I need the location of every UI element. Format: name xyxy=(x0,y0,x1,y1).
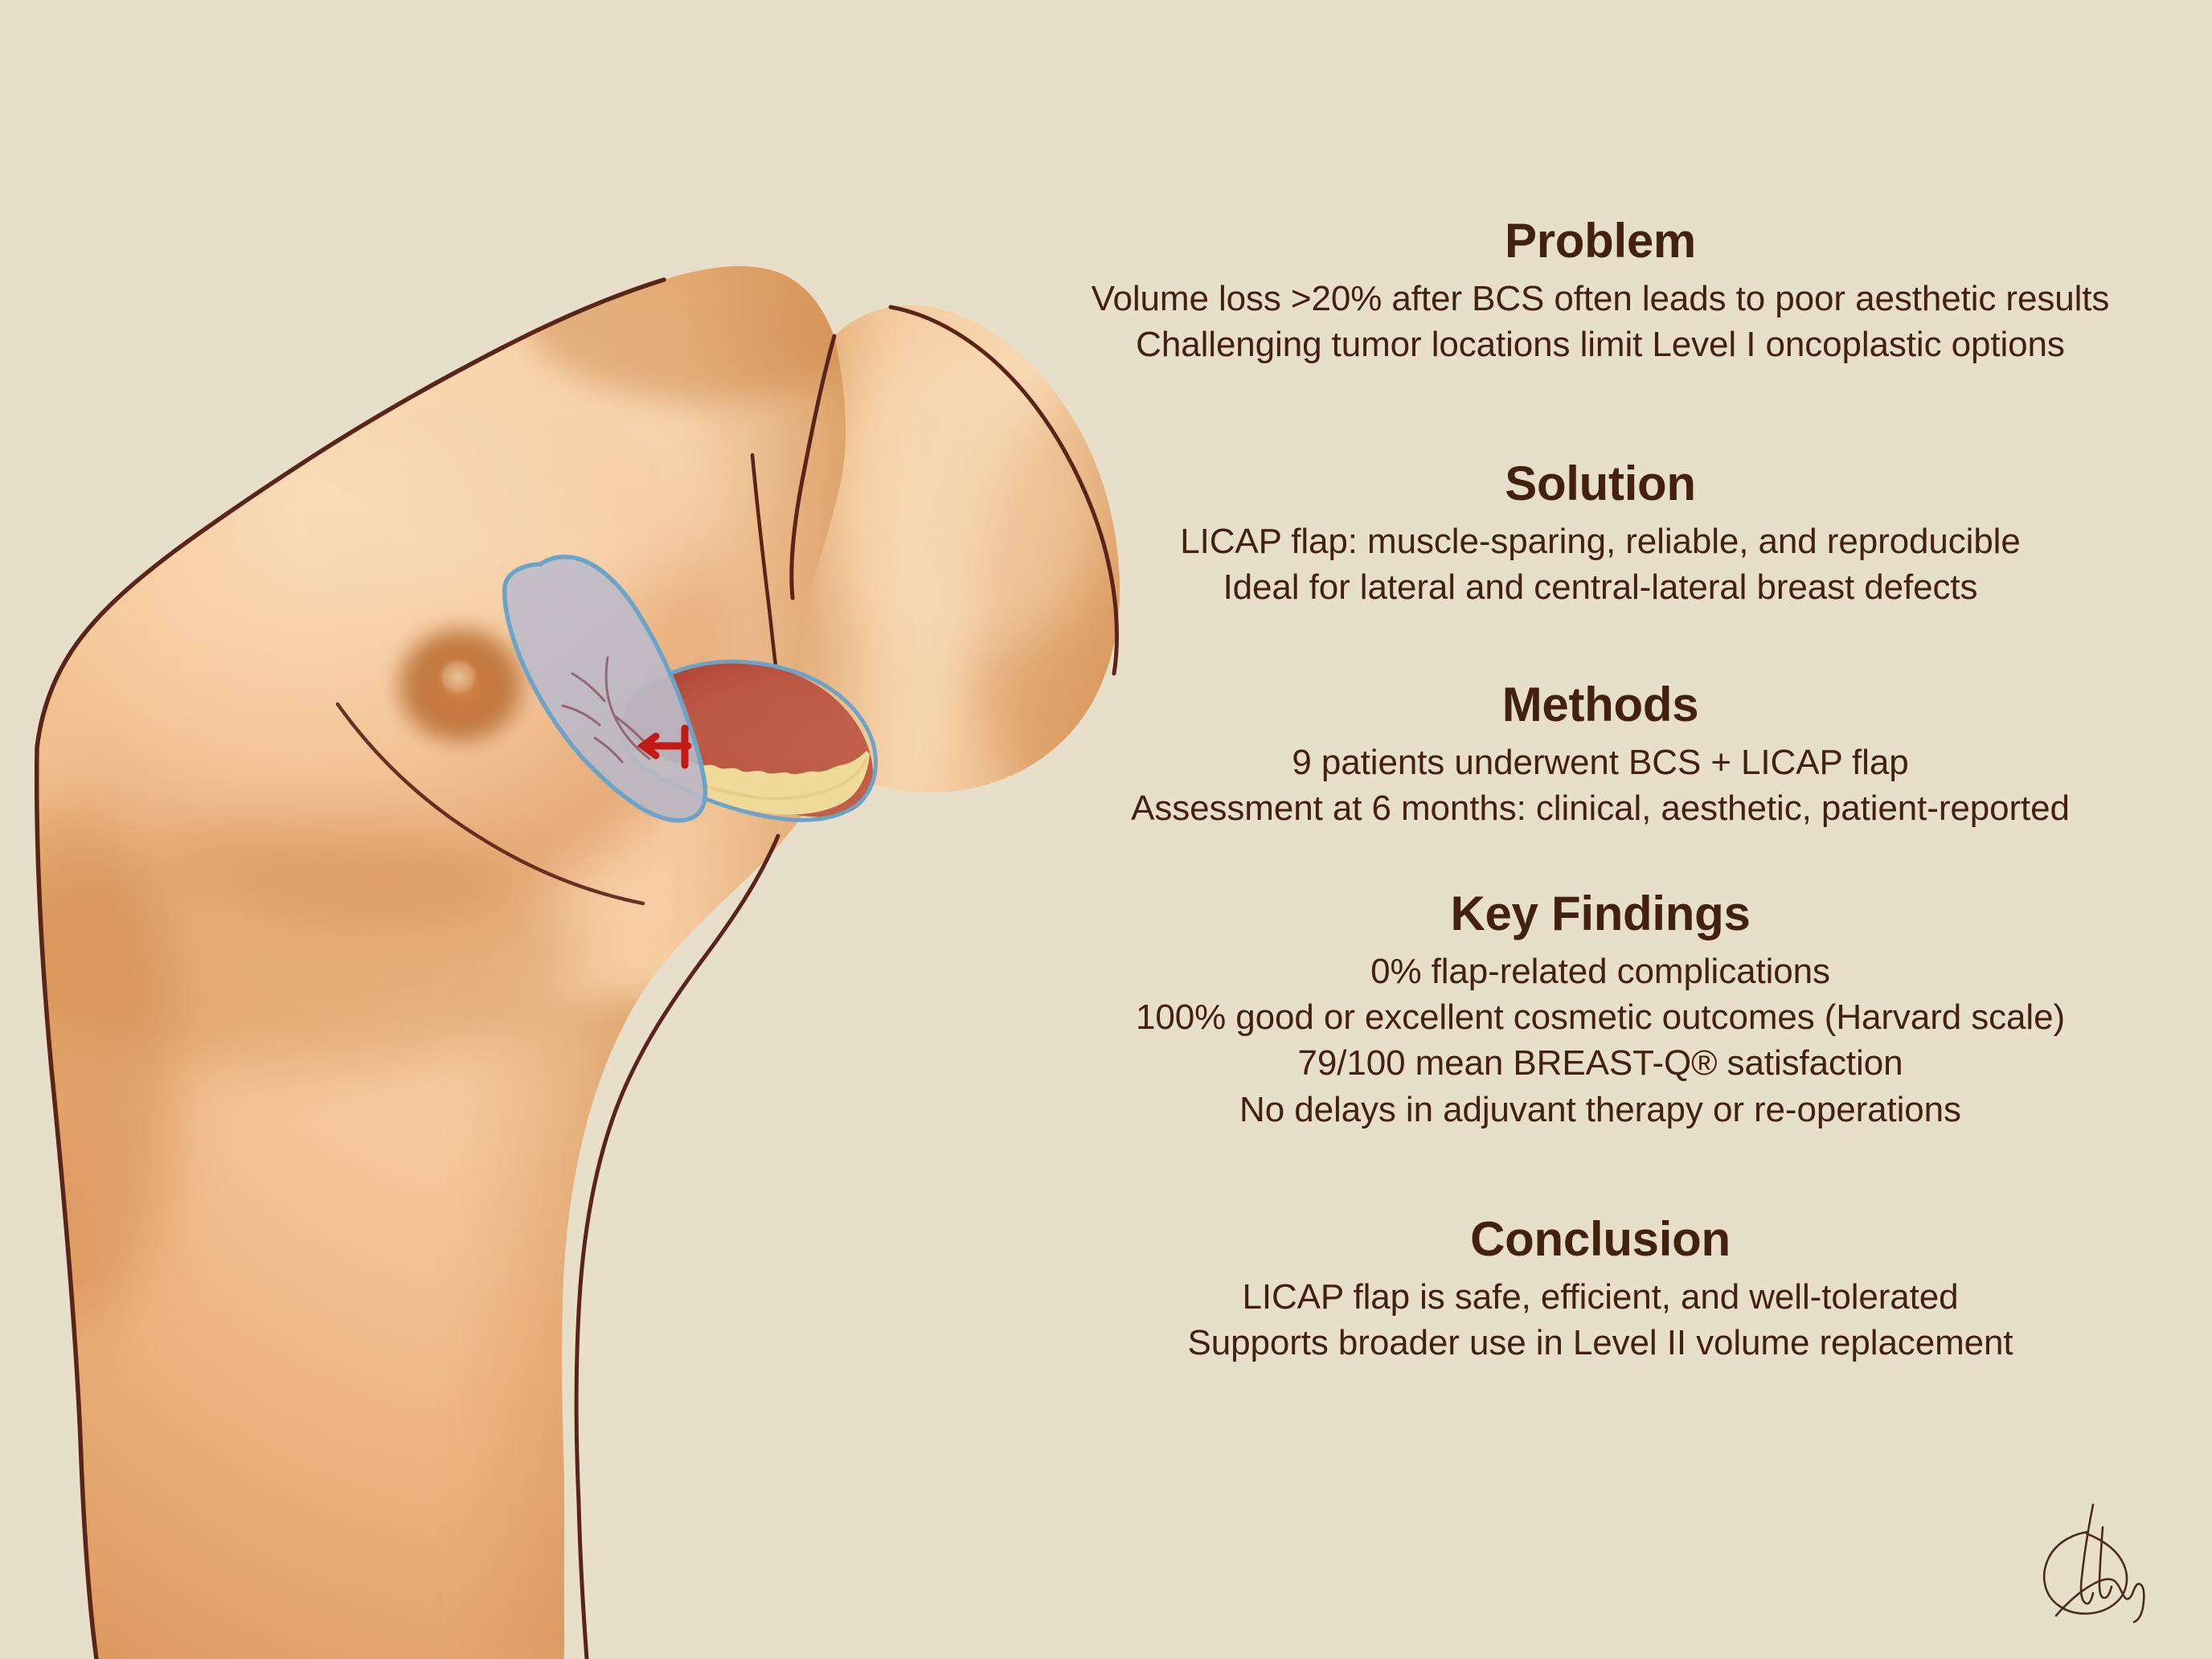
section-line: LICAP flap is safe, efficient, and well-… xyxy=(989,1274,2212,1320)
section-solution: Solution LICAP flap: muscle-sparing, rel… xyxy=(989,458,2212,610)
section-line: 9 patients underwent BCS + LICAP flap xyxy=(989,739,2212,785)
section-key-findings: Key Findings 0% flap-related complicatio… xyxy=(989,888,2212,1133)
section-problem: Problem Volume loss >20% after BCS often… xyxy=(989,215,2212,367)
section-line: 100% good or excellent cosmetic outcomes… xyxy=(989,994,2212,1040)
section-heading-solution: Solution xyxy=(989,458,2212,509)
nipple xyxy=(437,657,479,696)
section-conclusion: Conclusion LICAP flap is safe, efficient… xyxy=(989,1214,2212,1366)
section-line: Assessment at 6 months: clinical, aesthe… xyxy=(989,785,2212,831)
section-methods: Methods 9 patients underwent BCS + LICAP… xyxy=(989,679,2212,831)
section-line: No delays in adjuvant therapy or re-oper… xyxy=(989,1087,2212,1133)
section-line: Supports broader use in Level II volume … xyxy=(989,1320,2212,1366)
section-line: LICAP flap: muscle-sparing, reliable, an… xyxy=(989,518,2212,564)
artist-signature xyxy=(2000,1497,2193,1641)
infographic-poster: Problem Volume loss >20% after BCS often… xyxy=(0,0,2212,1659)
summary-text-column: Problem Volume loss >20% after BCS often… xyxy=(989,0,2212,1659)
section-line: 0% flap-related complications xyxy=(989,948,2212,994)
section-heading-methods: Methods xyxy=(989,679,2212,730)
section-line: 79/100 mean BREAST-Q® satisfaction xyxy=(989,1040,2212,1086)
section-line: Ideal for lateral and central-lateral br… xyxy=(989,564,2212,610)
section-heading-problem: Problem xyxy=(989,215,2212,266)
section-line: Challenging tumor locations limit Level … xyxy=(989,322,2212,367)
section-line: Volume loss >20% after BCS often leads t… xyxy=(989,276,2212,322)
section-heading-key-findings: Key Findings xyxy=(989,888,2212,939)
section-heading-conclusion: Conclusion xyxy=(989,1214,2212,1264)
